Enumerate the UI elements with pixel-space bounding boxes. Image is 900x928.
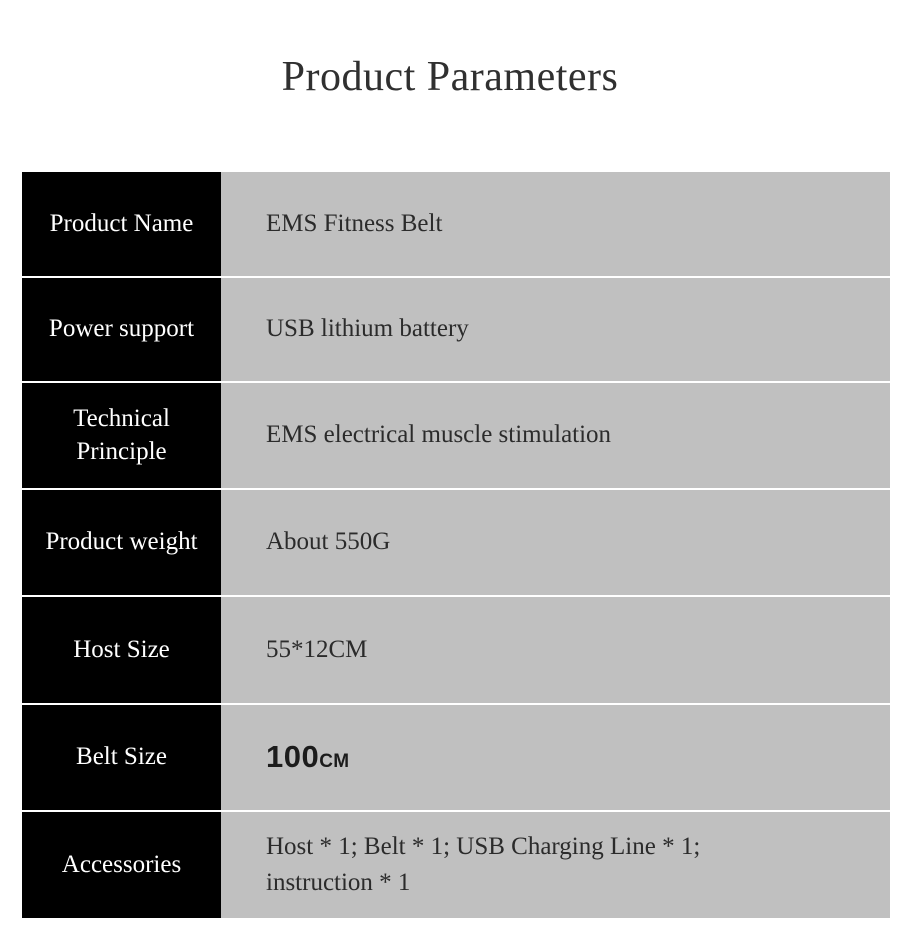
row-label-technical-principle: Technical Principle bbox=[22, 382, 221, 489]
row-label-product-name: Product Name bbox=[22, 172, 221, 277]
belt-size-number: 100 bbox=[266, 739, 319, 774]
row-label-accessories: Accessories bbox=[22, 811, 221, 919]
table-row-product-weight: Product weight About 550G bbox=[22, 489, 890, 596]
product-parameters-table: Product Name EMS Fitness Belt Power supp… bbox=[22, 172, 890, 920]
table-body: Product Name EMS Fitness Belt Power supp… bbox=[22, 172, 890, 919]
row-label-power-support: Power support bbox=[22, 277, 221, 382]
table-row-accessories: Accessories Host * 1; Belt * 1; USB Char… bbox=[22, 811, 890, 919]
row-label-technical-principle-line1: Technical bbox=[30, 403, 213, 436]
row-label-belt-size: Belt Size bbox=[22, 704, 221, 811]
table-row-host-size: Host Size 55*12CM bbox=[22, 596, 890, 704]
row-value-product-weight: About 550G bbox=[221, 489, 890, 596]
page-title: Product Parameters bbox=[0, 48, 900, 106]
table-row-technical-principle: Technical Principle EMS electrical muscl… bbox=[22, 382, 890, 489]
product-parameters-page: Product Parameters Product Name EMS Fitn… bbox=[0, 0, 900, 928]
accessories-line2: instruction * 1 bbox=[266, 865, 876, 901]
row-value-product-name: EMS Fitness Belt bbox=[221, 172, 890, 277]
row-value-power-support: USB lithium battery bbox=[221, 277, 890, 382]
row-value-belt-size: 100CM bbox=[221, 704, 890, 811]
table-row-power-support: Power support USB lithium battery bbox=[22, 277, 890, 382]
accessories-line1: Host * 1; Belt * 1; USB Charging Line * … bbox=[266, 829, 876, 865]
belt-size-unit: CM bbox=[319, 751, 349, 772]
row-value-technical-principle: EMS electrical muscle stimulation bbox=[221, 382, 890, 489]
row-label-host-size: Host Size bbox=[22, 596, 221, 704]
row-value-host-size: 55*12CM bbox=[221, 596, 890, 704]
row-label-product-weight: Product weight bbox=[22, 489, 221, 596]
row-value-accessories: Host * 1; Belt * 1; USB Charging Line * … bbox=[221, 811, 890, 919]
row-label-technical-principle-line2: Principle bbox=[30, 436, 213, 469]
table-row-product-name: Product Name EMS Fitness Belt bbox=[22, 172, 890, 277]
table-row-belt-size: Belt Size 100CM bbox=[22, 704, 890, 811]
